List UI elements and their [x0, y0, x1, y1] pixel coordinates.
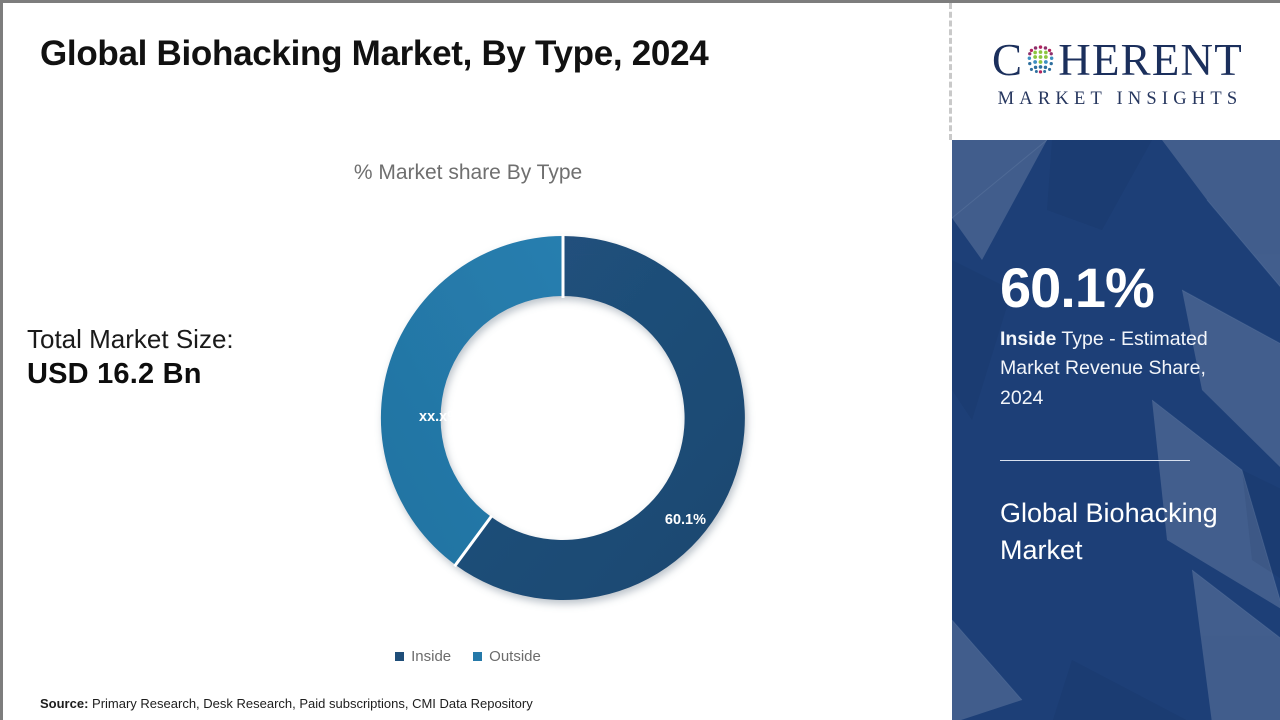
logo-word-before: C	[992, 38, 1023, 83]
donut-slice-outside[interactable]	[381, 236, 563, 565]
slice-label-inside: 60.1%	[665, 512, 706, 528]
legend-swatch-outside	[473, 652, 482, 661]
report-title: Global Biohacking Market	[1000, 495, 1230, 569]
donut-chart: xx.x% 60.1%	[353, 208, 773, 628]
infographic-slide: Global Biohacking Market, By Type, 2024 …	[0, 0, 1280, 720]
highlight-description-strong: Inside	[1000, 328, 1056, 350]
chart-subtitle: % Market share By Type	[3, 161, 933, 185]
page-title: Global Biohacking Market, By Type, 2024	[40, 34, 708, 74]
highlight-divider	[1000, 460, 1190, 461]
highlight-percent: 60.1%	[1000, 260, 1154, 316]
source-note: Source: Primary Research, Desk Research,…	[40, 696, 533, 711]
donut-chart-svg: xx.x% 60.1%	[353, 208, 773, 628]
chart-legend: Inside Outside	[3, 648, 933, 665]
highlight-content: 60.1% Inside Type - Estimated Market Rev…	[1000, 140, 1250, 720]
legend-swatch-inside	[395, 652, 404, 661]
slice-label-outside: xx.x%	[419, 409, 460, 425]
legend-item-inside[interactable]: Inside	[395, 648, 451, 665]
legend-label-outside: Outside	[489, 648, 541, 665]
source-text: Primary Research, Desk Research, Paid su…	[88, 696, 532, 711]
chart-panel: Global Biohacking Market, By Type, 2024 …	[3, 3, 949, 720]
logo-wordmark: C	[992, 34, 1243, 88]
market-size-label: Total Market Size:	[27, 325, 234, 354]
sidebar-panel: C	[952, 3, 1280, 720]
brand-logo[interactable]: C	[952, 3, 1280, 140]
market-size-value: USD 16.2 Bn	[27, 358, 234, 390]
legend-item-outside[interactable]: Outside	[473, 648, 541, 665]
source-label: Source:	[40, 696, 88, 711]
highlight-description: Inside Type - Estimated Market Revenue S…	[1000, 325, 1240, 413]
legend-label-inside: Inside	[411, 648, 451, 665]
logo-word-after: HERENT	[1058, 38, 1243, 83]
globe-dots-icon	[1024, 43, 1057, 76]
highlight-panel: 60.1% Inside Type - Estimated Market Rev…	[952, 140, 1280, 720]
total-market-size: Total Market Size: USD 16.2 Bn	[27, 325, 234, 391]
logo-tagline: MARKET INSIGHTS	[993, 89, 1243, 110]
